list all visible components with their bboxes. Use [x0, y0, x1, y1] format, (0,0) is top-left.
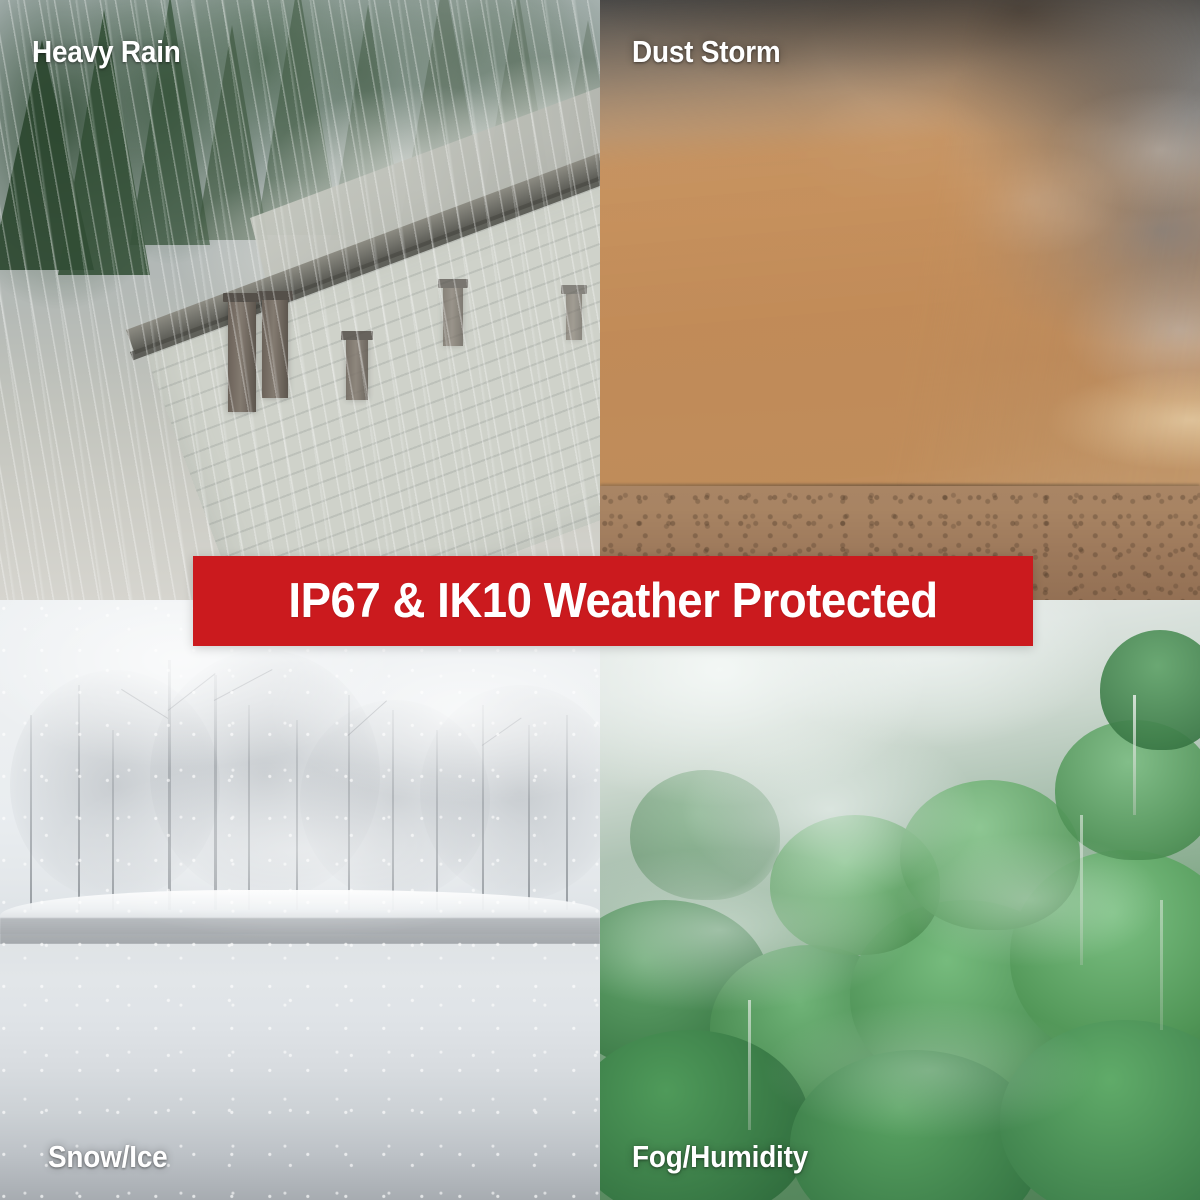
weather-rating-banner: IP67 & IK10 Weather Protected	[193, 556, 1033, 646]
label-heavy-rain: Heavy Rain	[32, 36, 181, 67]
quadrant-dust-storm	[600, 0, 1200, 600]
quadrant-fog-humidity	[600, 600, 1200, 1200]
weather-protection-collage: Heavy Rain Dust Storm Snow/Ice Fog/Humid…	[0, 0, 1200, 1200]
falling-snow-layer	[0, 600, 600, 1200]
quadrant-snow-ice	[0, 600, 600, 1200]
label-fog-humidity: Fog/Humidity	[632, 1141, 808, 1172]
label-snow-ice: Snow/Ice	[48, 1141, 168, 1172]
rain-streaks-layer	[0, 0, 600, 600]
weather-rating-banner-text: IP67 & IK10 Weather Protected	[288, 577, 937, 626]
label-dust-storm: Dust Storm	[632, 36, 781, 67]
fog-layer	[600, 600, 1200, 1200]
quadrant-heavy-rain	[0, 0, 600, 600]
